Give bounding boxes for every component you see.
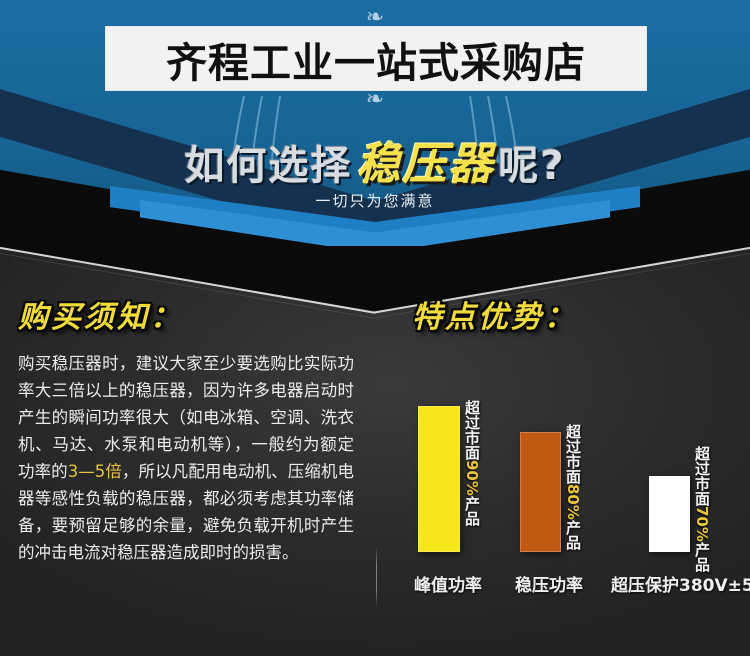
infographic-page: ❧ 齐程工业一站式采购店 ❧ 如何选择稳压器呢? 一切只为您满意 购买须知： 购… — [0, 0, 750, 656]
headline: 如何选择稳压器呢? — [0, 128, 750, 192]
bar-3-annotation-prefix: 超过市面 — [693, 446, 711, 506]
paragraph-highlight: 3—5倍 — [68, 462, 122, 481]
bar-1-percent: 90% — [463, 460, 481, 496]
bar-2-annotation-suffix: 产品 — [564, 520, 582, 550]
header-banner: ❧ 齐程工业一站式采购店 ❧ 如何选择稳压器呢? 一切只为您满意 — [0, 0, 750, 262]
shop-title: 齐程工业一站式采购店 — [166, 29, 586, 89]
bar-3-category-text: 超压保护380V±5% — [611, 576, 750, 596]
left-panel-paragraph: 购买稳压器时，建议大家至少要选购比实际功率大三倍以上的稳压器，因为许多电器启动时… — [18, 350, 354, 566]
bar-3-percent: 70% — [693, 506, 711, 542]
bar-1-annotation-prefix: 超过市面 — [463, 400, 481, 460]
headline-highlight: 稳压器 — [352, 139, 498, 190]
left-panel-heading: 购买须知： — [18, 292, 358, 336]
bar-1-category-label: 峰值功率 — [414, 571, 482, 596]
bar-2 — [520, 432, 561, 552]
headline-part-3: 呢? — [498, 143, 565, 189]
bar-3-annotation: 超过市面70%产品 — [694, 446, 709, 552]
bar-2-annotation: 超过市面80%产品 — [565, 424, 580, 552]
right-panel-heading: 特点优势： — [412, 292, 740, 336]
content-body: 购买须知： 购买稳压器时，建议大家至少要选购比实际功率大三倍以上的稳压器，因为许… — [0, 246, 750, 656]
flourish-ornament-top: ❧ — [366, 6, 384, 28]
panel-divider — [376, 546, 377, 608]
bar-2-category-label: 稳压功率 — [515, 571, 583, 596]
feature-bar-chart: 超过市面90%产品 峰值功率 超过市面80%产品 稳压功率 超过市面 — [400, 358, 750, 608]
bar-2-category-text: 稳压功率 — [515, 576, 583, 596]
bar-3-annotation-suffix: 产品 — [693, 542, 711, 572]
headline-part-1: 如何选择 — [184, 143, 352, 189]
bar-1 — [418, 406, 460, 552]
bar-1-annotation-suffix: 产品 — [463, 496, 481, 526]
bar-3 — [649, 476, 690, 552]
bar-2-annotation-prefix: 超过市面 — [564, 424, 582, 484]
right-panel: 特点优势： 超过市面90%产品 峰值功率 超过市面80%产品 稳压功率 — [400, 292, 740, 622]
shop-title-box: 齐程工业一站式采购店 — [105, 26, 647, 91]
bar-2-percent: 80% — [564, 484, 582, 520]
flourish-ornament-bottom: ❧ — [366, 88, 384, 110]
banner-tagline: 一切只为您满意 — [0, 190, 750, 211]
bar-1-category-text: 峰值功率 — [414, 576, 482, 596]
left-panel: 购买须知： 购买稳压器时，建议大家至少要选购比实际功率大三倍以上的稳压器，因为许… — [18, 292, 358, 566]
bar-1-annotation: 超过市面90%产品 — [464, 400, 479, 552]
bar-3-category-label: 超压保护380V±5% — [611, 571, 750, 596]
